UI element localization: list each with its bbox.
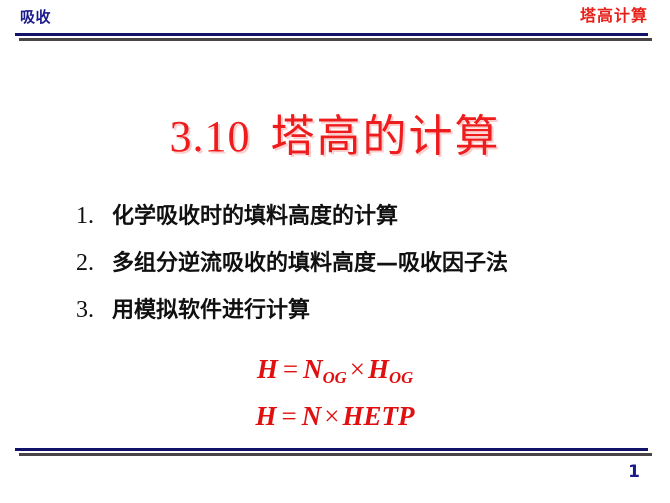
list-item-label: 用模拟软件进行计算: [112, 292, 310, 324]
header-rule: [15, 33, 648, 36]
formula-term2: HETP: [342, 401, 414, 431]
formula-block: H=NOG×HOG H=N×HETP: [0, 350, 670, 435]
list-item-label: 多组分逆流吸收的填料高度—吸收因子法: [112, 245, 508, 277]
list-item-number: 2.: [76, 250, 112, 277]
page-title: 3.10塔高的计算: [0, 100, 670, 164]
list-item-number: 3.: [76, 297, 112, 324]
footer-rule: [15, 448, 648, 451]
formula-lhs: H: [256, 401, 277, 431]
page-title-number: 3.10: [170, 112, 251, 161]
page-title-text: 塔高的计算: [271, 112, 501, 161]
topic-list: 1. 化学吸收时的填料高度的计算 2. 多组分逆流吸收的填料高度—吸收因子法 3…: [76, 198, 656, 339]
formula-operator: ×: [321, 401, 342, 431]
list-item-label: 化学吸收时的填料高度的计算: [112, 198, 398, 230]
formula-term2-subscript: OG: [389, 368, 413, 387]
formula-equals: =: [278, 354, 303, 384]
header-right-label: 塔高计算: [580, 7, 648, 27]
formula-term2: H: [368, 354, 389, 384]
footer-rule-shadow: [19, 453, 652, 456]
formula-term1-subscript: OG: [323, 368, 347, 387]
formula-term1: N: [302, 401, 322, 431]
formula-term1: N: [303, 354, 323, 384]
formula-operator: ×: [347, 354, 368, 384]
page-number: 1: [628, 462, 640, 482]
list-item: 3. 用模拟软件进行计算: [76, 292, 656, 339]
list-item: 1. 化学吸收时的填料高度的计算: [76, 198, 656, 245]
slide-header: 吸收 塔高计算: [0, 0, 670, 44]
slide-footer: 1: [0, 448, 670, 503]
header-rule-shadow: [19, 38, 652, 41]
formula-lhs: H: [257, 354, 278, 384]
formula-equals: =: [277, 401, 302, 431]
formula-hog: H=NOG×HOG: [0, 350, 670, 397]
formula-hetp: H=N×HETP: [0, 397, 670, 435]
list-item: 2. 多组分逆流吸收的填料高度—吸收因子法: [76, 245, 656, 292]
header-left-label: 吸收: [20, 7, 51, 27]
list-item-number: 1.: [76, 203, 112, 230]
slide: 吸收 塔高计算 3.10塔高的计算 1. 化学吸收时的填料高度的计算 2. 多组…: [0, 0, 670, 503]
